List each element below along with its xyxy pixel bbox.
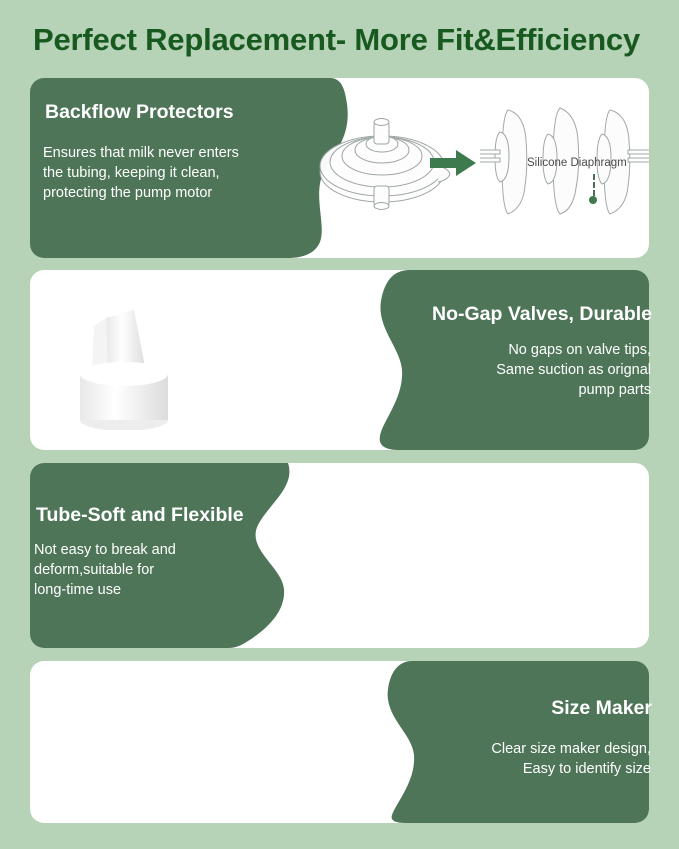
card-3-body-line-3: long-time use [34,580,274,600]
card-2-title: No-Gap Valves, Durable [432,302,652,326]
card-4-body: Clear size maker design, Easy to identif… [391,739,651,779]
card-3-body-line-2: deform,suitable for [34,560,274,580]
card-1-body-line-2: the tubing, keeping it clean, [43,163,303,183]
card-3-title: Tube-Soft and Flexible [36,503,244,527]
duckbill-valve-white-image [68,300,198,430]
card-4-title: Size Maker [551,696,652,720]
card-1-body-line-3: protecting the pump motor [43,183,303,203]
page-title: Perfect Replacement- More Fit&Efficiency [33,18,653,62]
callout-label-silicone-diaphragm: Silicone Diaphragm [527,157,627,169]
leader-line-silicone-diaphragm [593,174,595,196]
card-2-body-line-3: pump parts [391,380,651,400]
card-3-body-line-1: Not easy to break and [34,540,274,560]
card-2-body-line-1: No gaps on valve tips, [391,340,651,360]
card-1-body: Ensures that milk never enters the tubin… [43,143,303,203]
card-1-title: Backflow Protectors [45,100,234,124]
card-2-body-line-2: Same suction as orignal [391,360,651,380]
card-2-body: No gaps on valve tips, Same suction as o… [391,340,651,400]
card-4-body-line-2: Easy to identify size [391,759,651,779]
infographic-page: Perfect Replacement- More Fit&Efficiency [0,0,679,849]
right-arrow-icon [430,148,478,178]
callout-dot-silicone-diaphragm [589,196,597,204]
card-3-body: Not easy to break and deform,suitable fo… [34,540,274,600]
card-4-body-line-1: Clear size maker design, [391,739,651,759]
card-1-body-line-1: Ensures that milk never enters [43,143,303,163]
